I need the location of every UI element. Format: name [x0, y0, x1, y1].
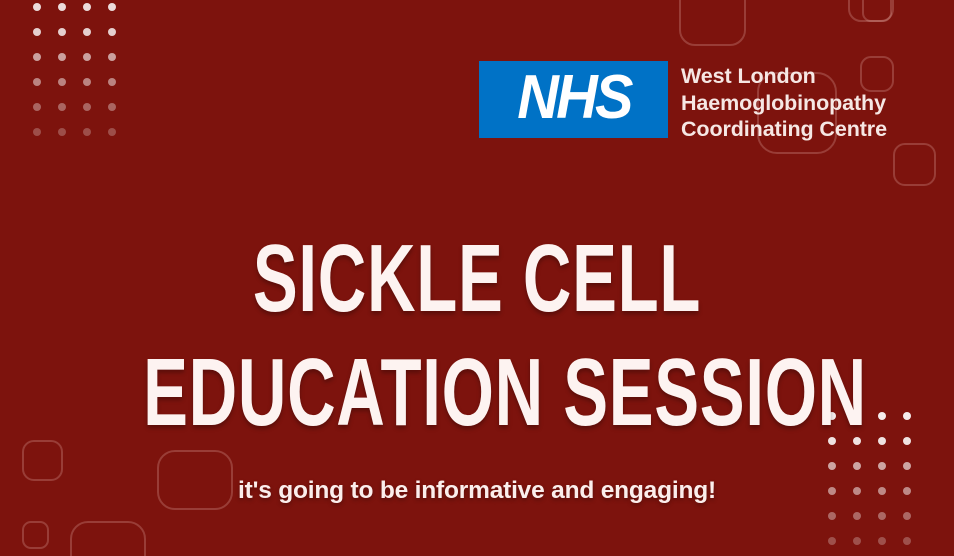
dot	[828, 462, 836, 470]
dot	[903, 462, 911, 470]
nhs-logo-box: NHS	[479, 61, 668, 138]
dot-row	[828, 512, 911, 537]
dot	[83, 53, 91, 61]
page-subtitle: it's going to be informative and engagin…	[0, 477, 954, 505]
nhs-organisation-line-2: Haemoglobinopathy	[681, 90, 887, 117]
rounded-square-top-5	[893, 143, 936, 186]
rounded-square-top-1	[679, 0, 746, 46]
dot	[33, 128, 41, 136]
dot	[903, 512, 911, 520]
page-title-line-2: EDUCATION SESSION	[143, 336, 811, 450]
page-title: SICKLE CELL EDUCATION SESSION	[0, 222, 954, 450]
dot	[33, 3, 41, 11]
dot	[33, 53, 41, 61]
dot-row	[33, 103, 116, 128]
dot	[878, 537, 886, 545]
poster-canvas: NHS West LondonHaemoglobinopathyCoordina…	[0, 0, 954, 556]
dot	[33, 28, 41, 36]
dot	[58, 103, 66, 111]
dot	[828, 537, 836, 545]
dot	[58, 128, 66, 136]
dot-row	[33, 53, 116, 78]
dot	[83, 128, 91, 136]
dot	[33, 78, 41, 86]
dot-row	[33, 28, 116, 53]
rounded-square-bot-3	[22, 521, 49, 549]
dot	[83, 3, 91, 11]
page-title-line-1: SICKLE CELL	[143, 222, 811, 336]
dot	[58, 53, 66, 61]
dot	[83, 28, 91, 36]
rounded-square-mid-1	[862, 0, 892, 22]
dot	[878, 512, 886, 520]
dot-row	[33, 78, 116, 103]
nhs-logo-lockup: NHS West LondonHaemoglobinopathyCoordina…	[479, 61, 887, 143]
dot	[83, 103, 91, 111]
dot	[828, 512, 836, 520]
dot	[58, 3, 66, 11]
dot	[108, 28, 116, 36]
dot	[58, 28, 66, 36]
rounded-square-bot-4	[70, 521, 146, 556]
dot	[108, 78, 116, 86]
dot	[108, 53, 116, 61]
nhs-organisation-name: West LondonHaemoglobinopathyCoordinating…	[681, 61, 887, 143]
dot-row	[33, 3, 116, 28]
dot	[853, 537, 861, 545]
dot	[878, 462, 886, 470]
dot	[903, 537, 911, 545]
nhs-organisation-line-1: West London	[681, 63, 887, 90]
rounded-square-top-2	[848, 0, 894, 22]
dot	[33, 103, 41, 111]
dot	[853, 512, 861, 520]
dot	[108, 3, 116, 11]
dot	[108, 103, 116, 111]
dot	[853, 462, 861, 470]
dot	[108, 128, 116, 136]
nhs-organisation-line-3: Coordinating Centre	[681, 116, 887, 143]
dot-grid-top-left	[33, 3, 116, 153]
dot-row	[33, 128, 116, 153]
dot	[83, 78, 91, 86]
dot-row	[828, 537, 911, 556]
nhs-wordmark: NHS	[517, 67, 630, 129]
dot	[58, 78, 66, 86]
